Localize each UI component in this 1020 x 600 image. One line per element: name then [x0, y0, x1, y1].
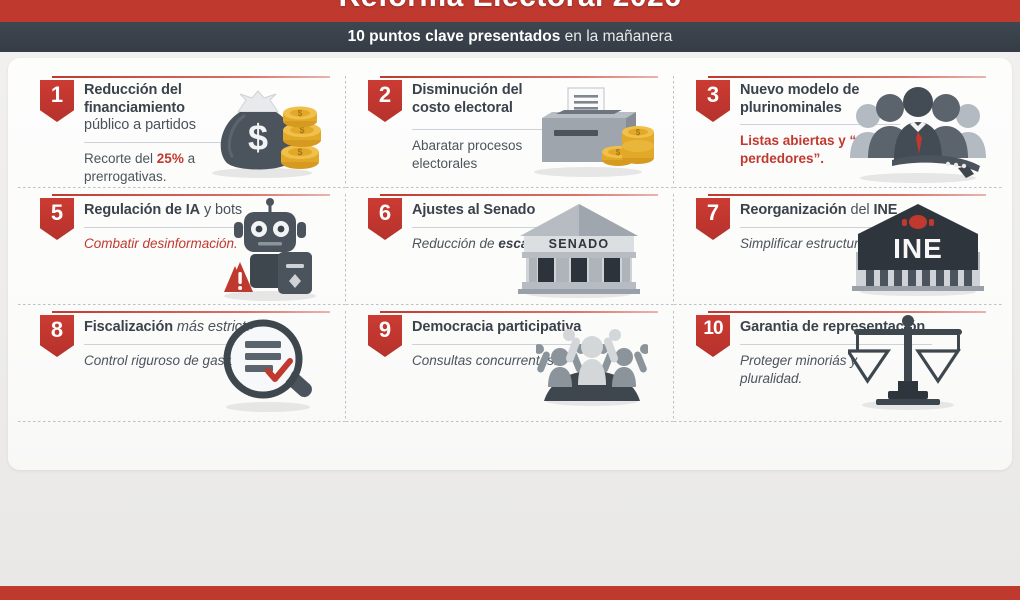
desc-pre: Recorte del: [84, 151, 157, 166]
card-heading: Fiscalización más estricta: [84, 319, 284, 337]
card-heading: Democracia participativa: [412, 319, 612, 337]
grid-cell: 5 Regulación de IA y bots Combatir desin…: [18, 188, 346, 305]
desc-pre: Simplificar estructura.: [740, 236, 870, 251]
grid-cell: 10 Garantia de representación Proteger m…: [674, 305, 1002, 422]
card-top-rule: [380, 194, 658, 196]
subtitle-rest: en la mañanera: [560, 28, 672, 45]
card-divider: [740, 124, 900, 125]
card-heading-bold: Reducción del financiamiento: [84, 82, 185, 116]
card-top-rule: [380, 311, 658, 313]
card-description: Combatir desinformación.: [84, 235, 274, 253]
card-8[interactable]: 8 Fiscalización más estricta Control rig…: [28, 305, 336, 422]
card-heading: Ajustes al Senado: [412, 202, 592, 220]
desc-pre: Proteger minoriás y pluralidad.: [740, 353, 857, 386]
card-top-rule: [52, 76, 330, 78]
card-heading-bold: Ajustes al Senado: [412, 202, 535, 218]
card-heading-bold: Democracia participativa: [412, 319, 581, 335]
card-body: Garantia de representación Proteger mino…: [740, 319, 988, 387]
card-heading-bold: Garantia de representación: [740, 319, 925, 335]
card-body: Democracia participativa Consultas concu…: [412, 319, 660, 370]
card-description: Listas abiertas y “mejores perdedores”.: [740, 132, 915, 168]
card-body: Disminución del costo electoral Abaratar…: [412, 82, 660, 173]
card-heading: Regulación de IA y bots: [84, 202, 269, 220]
card-divider: [412, 129, 560, 130]
subtitle-bold: 10 puntos clave presentados: [348, 28, 561, 45]
card-heading-bold: Nuevo modelo de plurinominales: [740, 82, 859, 116]
card-body: Reorganización del INE Simplificar estru…: [740, 202, 988, 253]
card-number-badge: 5: [40, 198, 74, 240]
card-top-rule: [708, 194, 986, 196]
footer-bar: [0, 586, 1020, 600]
card-heading: Reducción del financiamiento público a p…: [84, 82, 234, 135]
card-divider: [412, 227, 562, 228]
card-top-rule: [52, 311, 330, 313]
card-body: Nuevo modelo de plurinominales Listas ab…: [740, 82, 988, 168]
card-top-rule: [708, 76, 986, 78]
subtitle-text: 10 puntos clave presentados en la mañane…: [348, 28, 673, 46]
card-top-rule: [708, 311, 986, 313]
card-divider: [412, 344, 592, 345]
card-description: Abaratar procesos electorales: [412, 137, 562, 173]
card-description: Simplificar estructura.: [740, 235, 940, 253]
grid-cell: 6 Ajustes al Senado Reducción de escaños…: [346, 188, 674, 305]
card-heading: Disminución del costo electoral: [412, 82, 562, 117]
card-heading: Nuevo modelo de plurinominales: [740, 82, 900, 117]
grid-cell: 8 Fiscalización más estricta Control rig…: [18, 305, 346, 422]
card-number-badge: 7: [696, 198, 730, 240]
title-bar: Reforma Electoral 2026: [0, 0, 1020, 22]
grid-cell: 9 Democracia participativa Consultas con…: [346, 305, 674, 422]
card-1[interactable]: 1 Reducción del financiamiento público a…: [28, 70, 336, 188]
card-divider: [84, 344, 264, 345]
card-number-badge: 10: [696, 315, 730, 357]
card-heading-rest: y bots: [200, 202, 242, 218]
grid-cell: 2 Disminución del costo electoral Abarat…: [346, 70, 674, 188]
desc-pre: Reducción de: [412, 236, 498, 251]
card-body: Regulación de IA y bots Combatir desinfo…: [84, 202, 332, 253]
grid-cell: 1 Reducción del financiamiento público a…: [18, 70, 346, 188]
card-description: Recorte del 25% a prerrogativas.: [84, 150, 239, 186]
card-number-badge: 6: [368, 198, 402, 240]
card-6[interactable]: 6 Ajustes al Senado Reducción de escaños…: [356, 188, 664, 305]
card-9[interactable]: 9 Democracia participativa Consultas con…: [356, 305, 664, 422]
card-heading-rest: más estricta: [173, 319, 254, 335]
card-description: Consultas concurrentes.: [412, 352, 612, 370]
card-heading-bold: Regulación de IA: [84, 202, 200, 218]
card-number-badge: 8: [40, 315, 74, 357]
card-heading-bold: Fiscalización: [84, 319, 173, 335]
card-divider: [84, 142, 232, 143]
card-7[interactable]: 7 Reorganización del INE Simplificar est…: [684, 188, 992, 305]
desc-highlight: escaños: [498, 236, 552, 251]
card-divider: [740, 344, 932, 345]
subtitle-bar: 10 puntos clave presentados en la mañane…: [0, 22, 1020, 52]
grid-cell: 7 Reorganización del INE Simplificar est…: [674, 188, 1002, 305]
cards-panel: 1 Reducción del financiamiento público a…: [8, 58, 1012, 470]
card-heading-rest: del INE: [847, 202, 898, 218]
desc-pre: Consultas concurrentes.: [412, 353, 558, 368]
card-10[interactable]: 10 Garantia de representación Proteger m…: [684, 305, 992, 422]
card-description: Proteger minoriás y pluralidad.: [740, 352, 880, 388]
desc-pre: Abaratar procesos electorales: [412, 138, 522, 171]
card-top-rule: [380, 76, 658, 78]
desc-pre: Control riguroso de gastos.: [84, 353, 246, 368]
card-body: Fiscalización más estricta Control rigur…: [84, 319, 332, 370]
card-heading: Reorganización del INE: [740, 202, 940, 220]
card-body: Ajustes al Senado Reducción de escaños.: [412, 202, 660, 253]
card-2[interactable]: 2 Disminución del costo electoral Abarat…: [356, 70, 664, 188]
card-number-badge: 2: [368, 80, 402, 122]
card-description: Reducción de escaños.: [412, 235, 602, 253]
card-heading: Garantia de representación: [740, 319, 950, 337]
card-divider: [84, 227, 254, 228]
card-top-rule: [52, 194, 330, 196]
card-heading-rest: público a partidos: [84, 117, 196, 133]
desc-highlight: 25%: [157, 151, 184, 166]
grid-cell: 3 Nuevo modelo de plurinominales Listas …: [674, 70, 1002, 188]
card-3[interactable]: 3 Nuevo modelo de plurinominales Listas …: [684, 70, 992, 188]
card-heading-bold: Disminución del costo electoral: [412, 82, 523, 116]
card-number-badge: 1: [40, 80, 74, 122]
card-body: Reducción del financiamiento público a p…: [84, 82, 332, 186]
card-number-badge: 3: [696, 80, 730, 122]
card-5[interactable]: 5 Regulación de IA y bots Combatir desin…: [28, 188, 336, 305]
desc-pre: Combatir desinformación.: [84, 236, 238, 251]
desc-pre: Listas abiertas y “mejores perdedores”.: [740, 133, 908, 166]
desc-post: .: [552, 236, 556, 251]
page-title: Reforma Electoral 2026: [0, 0, 1020, 14]
card-description: Control riguroso de gastos.: [84, 352, 284, 370]
card-heading-bold: Reorganización: [740, 202, 847, 218]
cards-grid: 1 Reducción del financiamiento público a…: [18, 70, 1002, 462]
card-number-badge: 9: [368, 315, 402, 357]
card-divider: [740, 227, 920, 228]
